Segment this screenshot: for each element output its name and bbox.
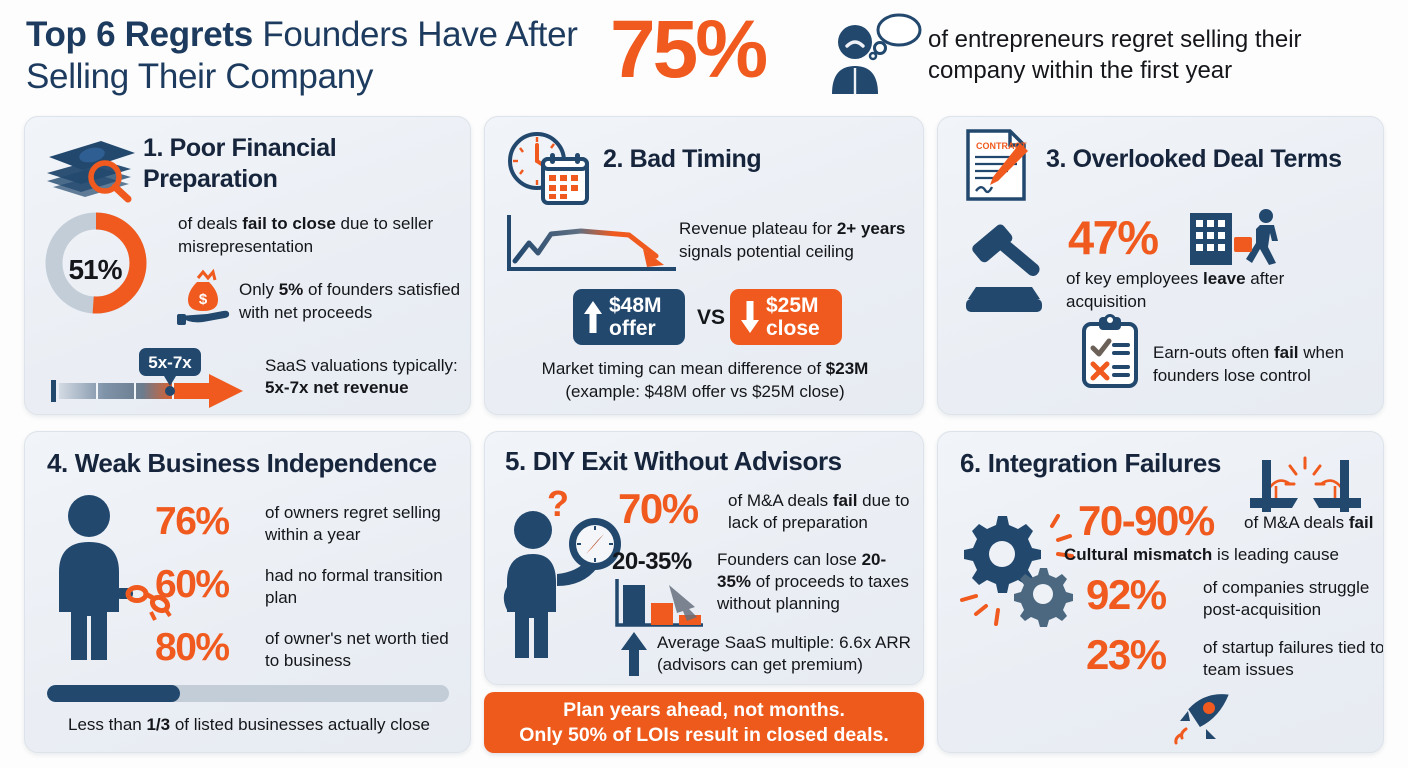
tax-text-a: Founders can lose <box>717 550 862 569</box>
market-timing-footer: Market timing can mean difference of $23… <box>495 357 915 403</box>
proceeds-text-bold: 5% <box>279 280 304 299</box>
listed-businesses-progress-bar <box>47 685 449 702</box>
down-arrow-icon <box>740 300 760 334</box>
money-stack-icon <box>39 129 139 201</box>
card-title: 2. Bad Timing <box>603 145 903 174</box>
page-header: Top 6 Regrets Founders Have After Sellin… <box>0 0 1408 110</box>
card-title: 3. Overlooked Deal Terms <box>1046 145 1376 174</box>
plateau-text-c: signals potential ceiling <box>679 242 854 261</box>
contract-document-icon: CONTRACT <box>962 127 1032 203</box>
saas-multiple-description: Average SaaS multiple: 6.6x ARR(advisors… <box>657 632 919 676</box>
valuation-text-bold: 5x-7x net revenue <box>265 378 409 397</box>
question-mark-icon: ? <box>547 483 569 524</box>
rocket-icon <box>1168 687 1234 747</box>
close-value: $25M <box>766 294 819 317</box>
donut-text-bold: fail to close <box>242 214 336 233</box>
footer-text-a: Market timing can mean difference of <box>542 359 826 378</box>
offer-labels: $48Moffer <box>609 294 662 340</box>
stat-value-80: 80% <box>155 626 229 670</box>
employees-leave-stat: 47% <box>1068 212 1158 264</box>
progress-caption-a: Less than <box>68 715 146 734</box>
plateau-text-bold: 2+ years <box>837 219 906 238</box>
person-with-compass-icon: ? <box>499 482 629 658</box>
close-value-box: $25Mclose <box>730 289 842 345</box>
up-arrow-icon <box>583 300 603 334</box>
revenue-plateau-description: Revenue plateau for 2+ years signals pot… <box>679 217 919 263</box>
headline-text: of entrepreneurs regret selling their co… <box>928 24 1398 86</box>
card-weak-business-independence: 4. Weak Business Independence 76% of own… <box>24 431 471 753</box>
svg-text:$: $ <box>199 291 208 308</box>
sad-person-icon <box>825 12 925 94</box>
saas-multiple-text: Average SaaS multiple: 6.6x ARR <box>657 633 911 652</box>
donut-text-a: of deals <box>178 214 242 233</box>
walking-employee-icon <box>1234 209 1278 265</box>
donut-value-label: 51% <box>47 254 143 286</box>
progress-caption-bold: 1/3 <box>146 715 170 734</box>
stat-value-70-90: 70-90% <box>1078 498 1214 544</box>
stat-text-60: had no formal transition plan <box>265 565 465 609</box>
declining-line-chart-icon <box>501 211 686 281</box>
ma-deals-bold: fail <box>1349 513 1374 532</box>
card-bad-timing: 2. Bad Timing Revenue plateau for 2+ yea… <box>484 116 924 415</box>
stat-text-92: of companies struggle post-acquisition <box>1203 577 1383 621</box>
infographic-page: Top 6 Regrets Founders Have After Sellin… <box>0 0 1408 768</box>
vs-label: VS <box>697 306 725 330</box>
card-integration-failures: 6. Integration Failures <box>937 431 1384 753</box>
money-bag-hand-icon: $ <box>175 270 233 326</box>
offer-value: $48M <box>609 294 662 317</box>
stat-value-70: 70% <box>618 486 698 532</box>
card-diy-exit-without-advisors: 5. DIY Exit Without Advisors ? 70% of M <box>484 431 924 685</box>
plateau-text-a: Revenue plateau for <box>679 219 837 238</box>
offer-label: offer <box>609 317 656 340</box>
donut-description: of deals fail to close due to seller mis… <box>178 212 468 258</box>
gears-icon <box>954 510 1086 630</box>
stat-text-23: of startup failures tied to team issues <box>1203 637 1384 681</box>
ma-fail-description: of M&A deals fail due to lack of prepara… <box>728 490 920 534</box>
tax-range-value: 20-35% <box>612 548 692 576</box>
progress-fill <box>47 685 180 702</box>
offer-value-box: $48Moffer <box>573 289 685 345</box>
ma-fail-a: of M&A deals <box>728 491 833 510</box>
tax-description: Founders can lose 20-35% of proceeds to … <box>717 549 917 615</box>
office-building-icon <box>1188 207 1298 265</box>
cultural-mismatch-text: Cultural mismatch is leading cause <box>1064 544 1384 566</box>
clipboard-checklist-icon <box>1078 314 1142 390</box>
footer-text-c: (example: $48M offer vs $25M close) <box>565 382 844 401</box>
earnouts-text-a: Earn-outs often <box>1153 343 1274 362</box>
employees-leave-description: of key employees leave after acquisition <box>1066 267 1356 313</box>
call-to-action-banner: Plan years ahead, not months. Only 50% o… <box>484 692 924 753</box>
valuation-text-a: SaaS valuations typically: <box>265 356 458 375</box>
leave-text-a: of key employees <box>1066 269 1203 288</box>
close-labels: $25Mclose <box>766 294 820 340</box>
valuation-scale-icon: 5x-7x <box>43 342 255 410</box>
stat-value-60: 60% <box>155 563 229 607</box>
card-title: 1. Poor Financial Preparation <box>143 133 443 195</box>
proceeds-text-a: Only <box>239 280 279 299</box>
broken-bridge-icon <box>1248 450 1363 520</box>
earnouts-text-bold: fail <box>1274 343 1299 362</box>
card-overlooked-deal-terms: CONTRACT 3. Overlooked Deal Terms <box>937 116 1384 415</box>
bar-chart-icon <box>613 577 708 632</box>
earnouts-description: Earn-outs often fail when founders lose … <box>1153 341 1378 387</box>
stat-value-23: 23% <box>1086 632 1166 678</box>
page-title-bold: Top 6 Regrets <box>26 15 253 54</box>
banner-line-1: Plan years ahead, not months. <box>563 698 845 723</box>
close-label: close <box>766 317 820 340</box>
ma-deals-a: of M&A deals <box>1244 513 1349 532</box>
cultural-mismatch-rest: is leading cause <box>1212 545 1339 564</box>
ma-deals-fail-text: of M&A deals fail <box>1244 512 1384 534</box>
stat-text-80: of owner's net worth tied to business <box>265 628 465 672</box>
page-title: Top 6 Regrets Founders Have After Sellin… <box>26 14 586 98</box>
gavel-icon <box>956 213 1061 318</box>
proceeds-description: Only 5% of founders satisfied with net p… <box>239 278 471 324</box>
stat-value-92: 92% <box>1086 572 1166 618</box>
leave-text-bold: leave <box>1203 269 1246 288</box>
valuation-description: SaaS valuations typically:5x-7x net reve… <box>265 355 470 399</box>
progress-caption: Less than 1/3 of listed businesses actua… <box>35 713 463 736</box>
svg-text:5x-7x: 5x-7x <box>148 353 192 372</box>
cultural-mismatch-bold: Cultural mismatch <box>1064 545 1212 564</box>
up-arrow-icon <box>620 631 648 677</box>
stat-value-76: 76% <box>155 500 229 544</box>
banner-line-2: Only 50% of LOIs result in closed deals. <box>519 723 889 748</box>
progress-caption-c: of listed businesses actually close <box>170 715 430 734</box>
card-title: 4. Weak Business Independence <box>47 448 467 479</box>
stat-text-76: of owners regret selling within a year <box>265 502 465 546</box>
saas-multiple-sub: (advisors can get premium) <box>657 655 863 674</box>
card-title: 5. DIY Exit Without Advisors <box>505 446 924 477</box>
ma-fail-bold: fail <box>833 491 858 510</box>
headline-percent: 75% <box>610 4 765 96</box>
card-poor-financial-preparation: 1. Poor Financial Preparation 51% of dea… <box>24 116 471 415</box>
clock-calendar-icon <box>503 129 593 207</box>
footer-text-bold: $23M <box>826 359 869 378</box>
